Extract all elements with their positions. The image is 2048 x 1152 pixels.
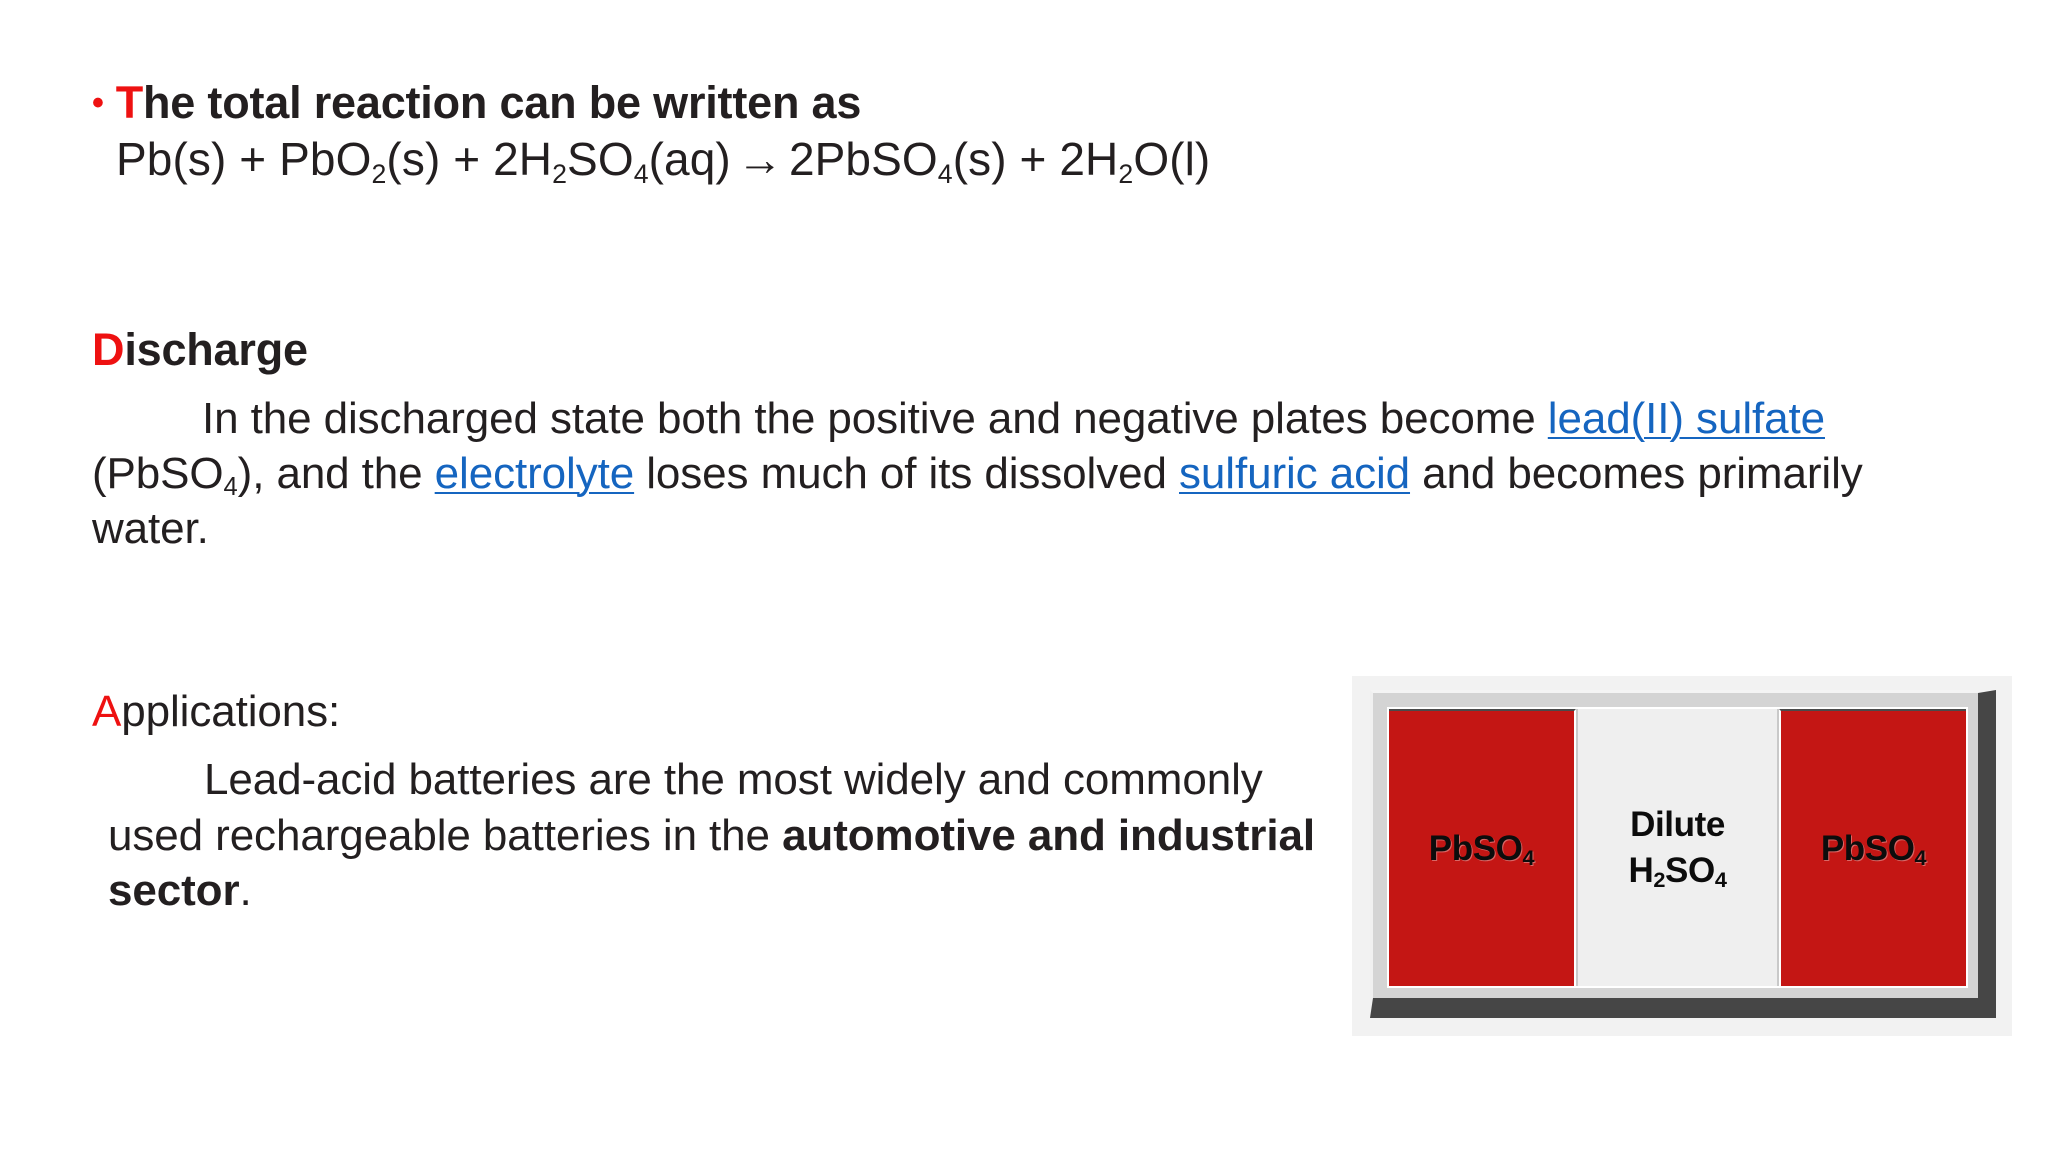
discharge-heading: Discharge [92,325,1972,375]
total-reaction-block: •The total reaction can be written as Pb… [92,78,1592,187]
heading-text: pplications: [121,687,340,736]
battery-plate-left: PbSO4 [1389,709,1576,986]
equation-sub: 2 [1118,159,1133,189]
equation-sulfate: SO [567,133,634,185]
slide-canvas: •The total reaction can be written as Pb… [0,0,2048,1152]
applications-block: Applications: Lead-acid batteries are th… [92,688,1327,919]
battery-interior: PbSO4 Dilute H2SO4 PbSO4 [1387,707,1968,988]
bullet-icon: • [92,84,104,122]
heading-initial-letter: D [92,324,124,375]
applications-heading: Applications: [92,688,1327,736]
formula-sub: 4 [224,473,238,501]
equation-sub: 2 [371,159,386,189]
total-reaction-heading: •The total reaction can be written as [92,78,1592,128]
discharge-text-3: ), and the [238,449,435,498]
electrolyte-formula-h: H [1628,851,1653,890]
heading-text: ischarge [124,324,308,375]
discharge-block: Discharge In the discharged state both t… [92,325,1972,556]
plate-sub: 4 [1915,845,1927,870]
plate-label-left: PbSO4 [1429,829,1534,869]
electrolyte-word: Dilute [1630,805,1725,844]
electrolyte-formula-so: SO [1665,851,1715,890]
discharge-text-4: loses much of its dissolved [634,449,1179,498]
plate-sub: 4 [1522,845,1534,870]
total-reaction-equation: Pb(s) + PbO2(s) + 2H2SO4(aq)→2PbSO4(s) +… [116,132,1592,186]
link-lead-ii-sulfate[interactable]: lead(II) sulfate [1548,394,1825,443]
battery-plate-right: PbSO4 [1779,709,1966,986]
equation-product-tail: (s) + 2H [953,133,1119,185]
electrolyte-label-line-1: Dilute [1630,802,1725,848]
equation-water: O(l) [1133,133,1210,185]
plate-formula: PbSO [1821,829,1915,868]
applications-paragraph: Lead-acid batteries are the most widely … [108,752,1327,918]
heading-text: he total reaction can be written as [143,77,861,128]
electrolyte-sub: 4 [1715,867,1727,892]
link-sulfuric-acid[interactable]: sulfuric acid [1179,449,1410,498]
applications-text-2: . [239,866,251,915]
discharge-text-1: In the discharged state both the positiv… [202,394,1548,443]
equation-sub: 4 [938,159,953,189]
heading-initial-letter: T [116,77,143,128]
discharge-paragraph: In the discharged state both the positiv… [92,391,1972,557]
equation-reactant-lead: Pb(s) + PbO [116,133,371,185]
battery-case: PbSO4 Dilute H2SO4 PbSO4 [1370,690,1996,1018]
electrolyte-sub: 2 [1653,867,1665,892]
plate-label-right: PbSO4 [1821,829,1926,869]
battery-electrolyte-region: Dilute H2SO4 [1576,709,1779,986]
equation-sub: 2 [552,159,567,189]
heading-initial-letter: A [92,687,121,736]
equation-product-pbso4: 2PbSO [789,133,938,185]
electrolyte-label-line-2: H2SO4 [1628,848,1726,894]
plate-formula: PbSO [1429,829,1523,868]
reaction-arrow-icon: → [731,133,789,185]
equation-sub: 4 [634,159,649,189]
equation-aq: (aq) [649,133,731,185]
equation-reactant-tail: (s) + 2H [386,133,552,185]
battery-diagram: PbSO4 Dilute H2SO4 PbSO4 [1352,676,2012,1036]
link-electrolyte[interactable]: electrolyte [435,449,634,498]
discharge-text-2: (PbSO [92,449,224,498]
